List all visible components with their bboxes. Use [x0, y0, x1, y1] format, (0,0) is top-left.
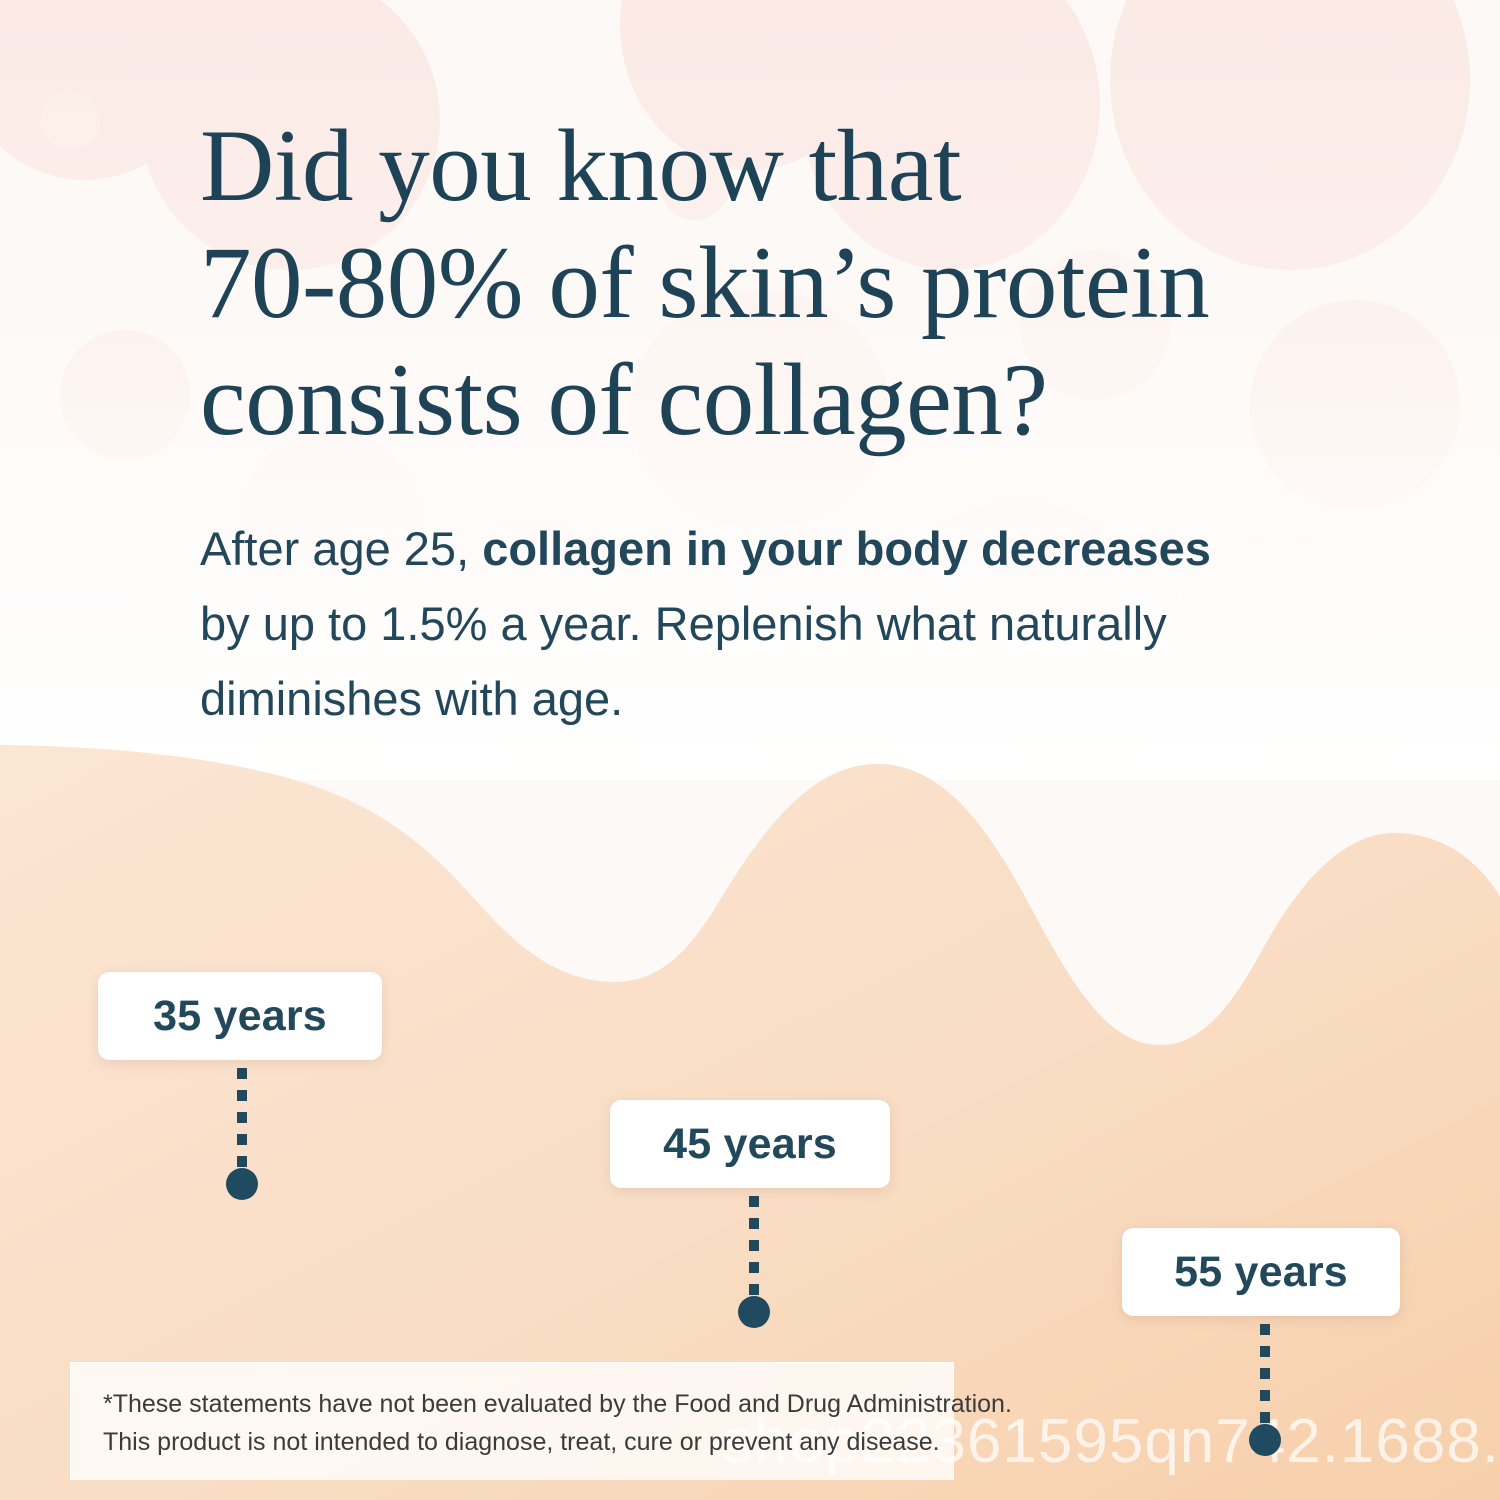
body-paragraph: After age 25, collagen in your body decr… — [200, 459, 1270, 736]
disclaimer-line-1: *These statements have not been evaluate… — [103, 1385, 921, 1423]
fda-disclaimer: *These statements have not been evaluate… — [70, 1362, 954, 1480]
leader-line-35-years — [237, 1068, 247, 1176]
infographic-poster: Did you know that 70-80% of skin’s prote… — [0, 0, 1500, 1500]
leader-dot-35-years — [226, 1168, 258, 1200]
leader-dot-45-years — [738, 1296, 770, 1328]
body-text-part-1: After age 25, — [200, 522, 482, 575]
disclaimer-line-2: This product is not intended to diagnose… — [103, 1423, 921, 1461]
headline-line-2: 70-80% of skin’s protein — [200, 225, 1380, 342]
callout-label-35-years: 35 years — [98, 972, 382, 1060]
headline-line-3: consists of collagen? — [200, 342, 1380, 459]
page-title: Did you know that 70-80% of skin’s prote… — [200, 0, 1380, 459]
text-block: Did you know that 70-80% of skin’s prote… — [200, 0, 1380, 736]
body-text-bold: collagen in your body decreases — [482, 522, 1211, 575]
headline-line-1: Did you know that — [200, 108, 1380, 225]
leader-line-45-years — [749, 1196, 759, 1304]
leader-line-55-years — [1260, 1324, 1270, 1430]
callout-label-45-years: 45 years — [610, 1100, 890, 1188]
callout-label-55-years: 55 years — [1122, 1228, 1400, 1316]
leader-dot-55-years — [1249, 1424, 1281, 1456]
